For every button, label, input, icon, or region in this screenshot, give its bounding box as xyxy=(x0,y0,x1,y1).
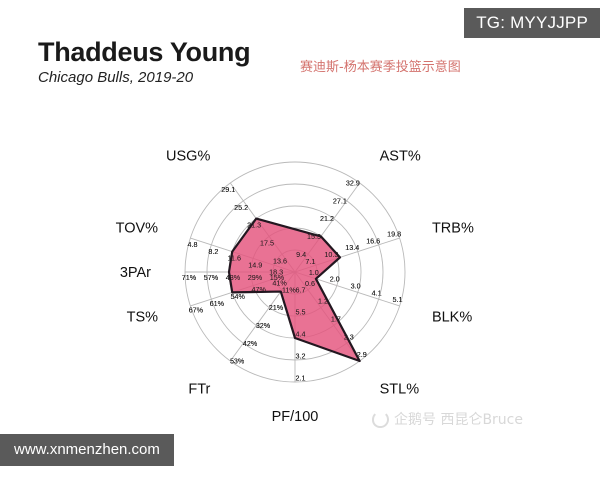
axis-tick-label: 21% xyxy=(269,303,284,312)
axis-tick-label: 32.9 xyxy=(346,179,360,188)
axis-tick-label: 15.3 xyxy=(307,232,321,241)
axis-label-stl: STL% xyxy=(380,382,420,398)
site-url-badge: www.xnmenzhen.com xyxy=(0,434,174,466)
axis-tick-label: 18.3 xyxy=(269,267,283,276)
axis-tick-label: 47% xyxy=(251,285,266,294)
axis-label-usg: USG% xyxy=(166,149,210,165)
axis-tick-label: 13.4 xyxy=(345,243,359,252)
axis-tick-label: 2.1 xyxy=(296,374,306,383)
axis-tick-label: 71% xyxy=(182,273,197,282)
axis-tick-label: 3.2 xyxy=(296,352,306,361)
axis-label-ftr: FTr xyxy=(188,382,210,398)
axis-tick-label: 29.1 xyxy=(221,185,235,194)
axis-tick-label: 21.3 xyxy=(247,221,261,230)
axis-label-ast: AST% xyxy=(380,149,421,165)
penguin-icon xyxy=(372,411,389,428)
axis-tick-label: 11.6 xyxy=(228,254,241,263)
axis-tick-label: 2.9 xyxy=(357,350,367,359)
axis-label-tov: TOV% xyxy=(116,221,159,237)
axis-tick-label: 32% xyxy=(256,321,271,330)
axis-tick-label: 21.2 xyxy=(320,214,334,223)
watermark: 企鹅号 西昆仑Bruce xyxy=(372,409,523,429)
axis-tick-label: 54% xyxy=(231,292,246,301)
axis-tick-label: 2.3 xyxy=(344,332,354,341)
axis-tick-label: 13.6 xyxy=(273,256,287,265)
axis-tick-label: 10.3 xyxy=(324,250,338,259)
axis-tick-label: 57% xyxy=(204,273,219,282)
axis-tick-label: 4.8 xyxy=(187,240,197,249)
axis-tick-label: 0.6 xyxy=(305,279,315,288)
axis-tick-label: 3.0 xyxy=(351,282,361,291)
axis-tick-label: 7.1 xyxy=(305,257,315,266)
chart-canvas: 13.617.521.325.229.1USG%9.415.321.227.13… xyxy=(0,0,600,480)
axis-tick-label: 42% xyxy=(243,339,258,348)
axis-tick-label: 5.5 xyxy=(296,308,306,317)
tag-badge: TG: MYYJJPP xyxy=(464,8,600,38)
axis-tick-label: 4.1 xyxy=(372,288,382,297)
axis-label-ts: TS% xyxy=(127,310,159,326)
axis-tick-label: 61% xyxy=(210,299,225,308)
axis-tick-label: 25.2 xyxy=(234,203,248,212)
page-title: Thaddeus Young xyxy=(38,38,250,66)
axis-label-trb: TRB% xyxy=(432,221,474,237)
subtitle: Chicago Bulls, 2019-20 xyxy=(38,69,250,86)
axis-tick-label: 67% xyxy=(189,306,204,315)
axis-tick-label: 8.2 xyxy=(208,247,218,256)
axis-tick-label: 1.7 xyxy=(331,315,341,324)
chinese-caption: 赛迪斯-杨本赛季投篮示意图 xyxy=(300,56,461,75)
axis-tick-label: 6.7 xyxy=(296,286,306,295)
axis-tick-label: 29% xyxy=(248,273,263,282)
axis-label-pf-100: PF/100 xyxy=(272,409,319,425)
axis-label-3par: 3PAr xyxy=(120,265,151,281)
axis-tick-label: 14.9 xyxy=(248,260,262,269)
axis-tick-label: 17.5 xyxy=(260,238,274,247)
axis-tick-label: 19.8 xyxy=(387,230,401,239)
axis-tick-label: 4.4 xyxy=(296,330,306,339)
title-block: Thaddeus Young Chicago Bulls, 2019-20 xyxy=(38,38,250,86)
axis-tick-label: 1.0 xyxy=(309,268,319,277)
axis-tick-label: 43% xyxy=(226,273,241,282)
axis-tick-label: 27.1 xyxy=(333,196,347,205)
watermark-label: 企鹅号 西昆仑Bruce xyxy=(394,409,523,429)
axis-tick-label: 2.0 xyxy=(330,275,340,284)
axis-tick-label: 1.2 xyxy=(318,297,328,306)
axis-tick-label: 16.6 xyxy=(366,236,380,245)
axis-tick-label: 5.1 xyxy=(393,295,403,304)
axis-tick-label: 53% xyxy=(230,357,245,366)
axis-label-blk: BLK% xyxy=(432,310,472,326)
